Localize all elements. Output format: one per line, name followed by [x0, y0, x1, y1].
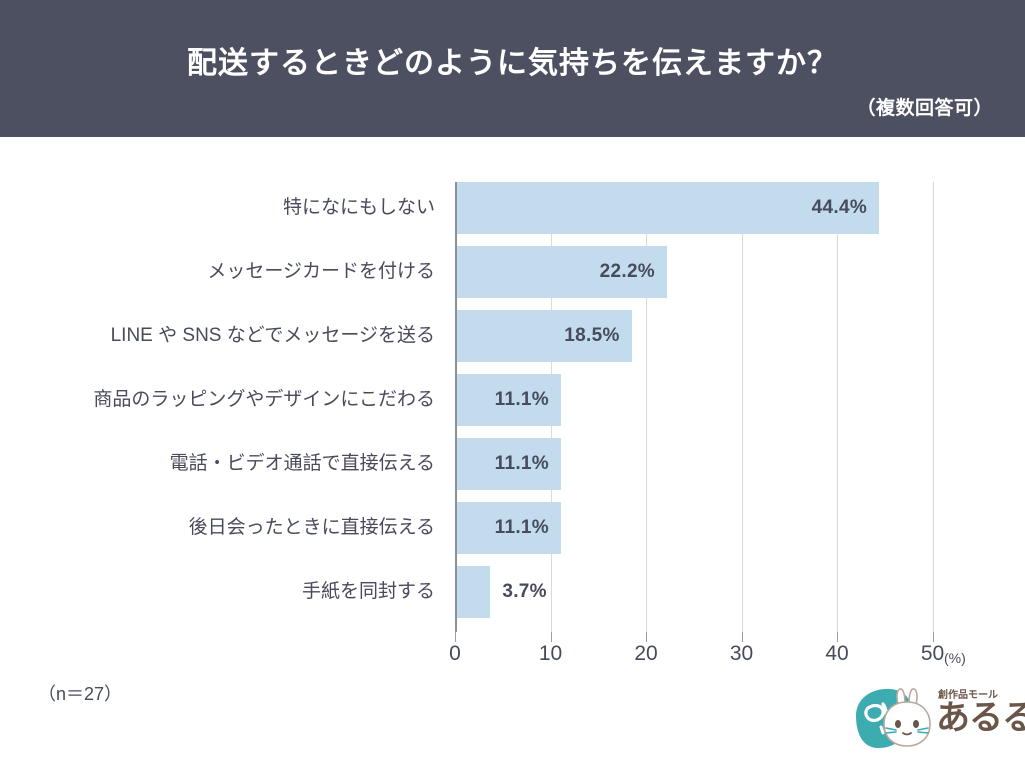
- bar-value-label: 11.1%: [495, 374, 549, 426]
- multiple-answer-note: （複数回答可）: [856, 93, 993, 120]
- tick-label-30: 30: [712, 642, 772, 666]
- bar-row[interactable]: メッセージカードを付ける22.2%: [455, 246, 935, 298]
- category-label: 電話・ビデオ通話で直接伝える: [10, 438, 435, 490]
- tick-label-40: 40: [807, 642, 867, 666]
- tick-label-10: 10: [521, 642, 581, 666]
- category-label: メッセージカードを付ける: [10, 246, 435, 298]
- brand-logo[interactable]: 創作品モール あるる: [848, 684, 1008, 756]
- bar-value-label: 22.2%: [600, 246, 655, 298]
- y-axis-line: [455, 182, 457, 632]
- bar[interactable]: 11.1%: [455, 374, 561, 426]
- bar-value-label: 11.1%: [495, 502, 549, 554]
- bar-row[interactable]: 特になにもしない44.4%: [455, 182, 935, 234]
- bar[interactable]: 11.1%: [455, 502, 561, 554]
- category-label: LINE や SNS などでメッセージを送る: [10, 310, 435, 362]
- category-label: 商品のラッピングやデザインにこだわる: [10, 374, 435, 426]
- page-title: 配送するときどのように気持ちを伝えますか？: [0, 38, 1025, 82]
- bar-value-label: 44.4%: [812, 182, 867, 234]
- bar[interactable]: 11.1%: [455, 438, 561, 490]
- tick-mark-10: [551, 632, 552, 642]
- bar-row[interactable]: 電話・ビデオ通話で直接伝える11.1%: [455, 438, 935, 490]
- bar-row[interactable]: 手紙を同封する3.7%: [455, 566, 935, 618]
- tick-mark-40: [837, 632, 838, 642]
- bar[interactable]: 3.7%: [455, 566, 490, 618]
- logo-brand-name: あるる: [936, 696, 1025, 740]
- tick-mark-0: [455, 632, 456, 642]
- tick-label-0: 0: [425, 642, 485, 666]
- bar[interactable]: 18.5%: [455, 310, 632, 362]
- bar-value-label: 18.5%: [564, 310, 619, 362]
- tick-label-20: 20: [616, 642, 676, 666]
- tick-mark-30: [742, 632, 743, 642]
- bar[interactable]: 22.2%: [455, 246, 667, 298]
- plot-area: 特になにもしない44.4%メッセージカードを付ける22.2%LINE や SNS…: [455, 182, 935, 632]
- bar-chart: 特になにもしない44.4%メッセージカードを付ける22.2%LINE や SNS…: [0, 137, 1025, 768]
- bar-value-label: 3.7%: [502, 566, 547, 618]
- category-label: 手紙を同封する: [10, 566, 435, 618]
- logo-text: 創作品モール あるる: [936, 684, 1014, 754]
- rabbit-icon: [848, 686, 940, 752]
- x-axis-unit-label: (%): [944, 650, 966, 666]
- bar[interactable]: 44.4%: [455, 182, 879, 234]
- category-label: 特になにもしない: [10, 182, 435, 234]
- category-label: 後日会ったときに直接伝える: [10, 502, 435, 554]
- bar-row[interactable]: LINE や SNS などでメッセージを送る18.5%: [455, 310, 935, 362]
- bar-row[interactable]: 商品のラッピングやデザインにこだわる11.1%: [455, 374, 935, 426]
- tick-mark-20: [646, 632, 647, 642]
- tick-mark-50: [933, 632, 934, 642]
- bar-row[interactable]: 後日会ったときに直接伝える11.1%: [455, 502, 935, 554]
- chart-header-banner: 配送するときどのように気持ちを伝えますか？ （複数回答可）: [0, 0, 1025, 137]
- bar-value-label: 11.1%: [495, 438, 549, 490]
- sample-size-note: （n＝27）: [38, 680, 122, 706]
